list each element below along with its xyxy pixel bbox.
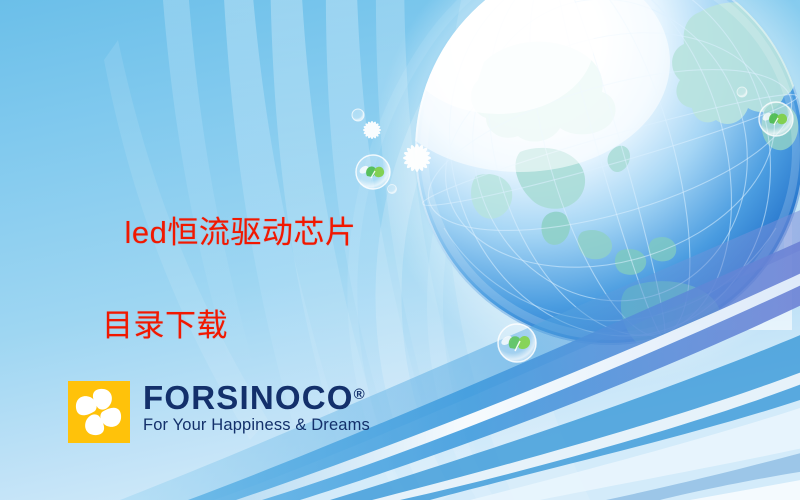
globe-continents — [471, 0, 798, 379]
company-logo: FORSINOCO® For Your Happiness & Dreams — [68, 381, 370, 443]
logo-wordmark: FORSINOCO® — [143, 382, 370, 414]
four-petal-pinwheel-icon — [68, 381, 130, 443]
headline-line-1: led恒流驱动芯片 — [124, 215, 356, 250]
globe-light-sweep — [445, 0, 590, 500]
glowing-earth-globe — [370, 0, 800, 386]
logo-wordmark-text: FORSINOCO — [143, 379, 354, 416]
globe-grid — [406, 0, 800, 374]
registered-trademark-symbol: ® — [354, 386, 365, 403]
promotional-banner: led恒流驱动芯片 目录下载 FORSINOCO® For Your Happi… — [0, 0, 800, 500]
logo-tagline: For Your Happiness & Dreams — [143, 416, 370, 436]
headline-line-2: 目录下载 — [88, 303, 428, 350]
logo-text-block: FORSINOCO® For Your Happiness & Dreams — [143, 381, 370, 436]
city-skyline-silhouette — [600, 142, 792, 334]
